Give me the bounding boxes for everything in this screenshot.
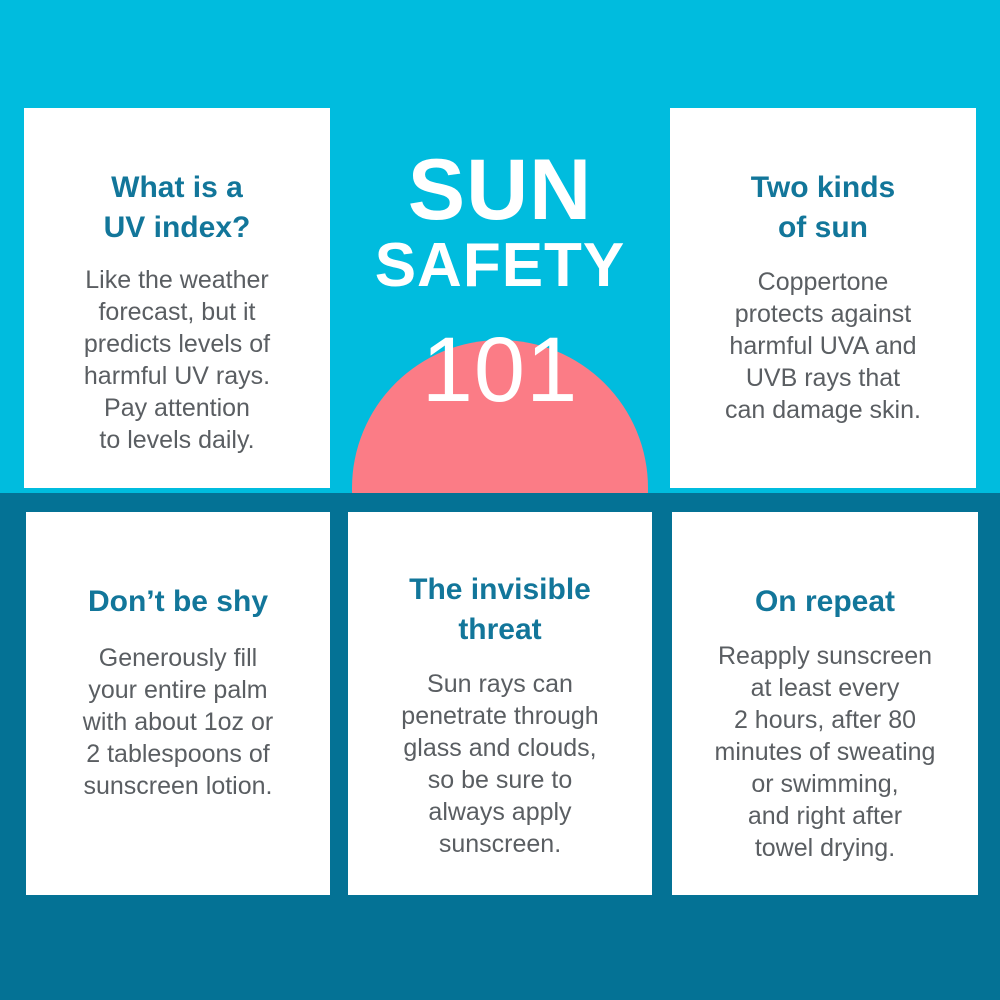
card-uv-index-body: Like the weather forecast, but it predic… bbox=[84, 264, 270, 456]
card-on-repeat-body: Reapply sunscreen at least every 2 hours… bbox=[715, 640, 936, 864]
card-dont-be-shy-title: Don’t be shy bbox=[88, 582, 268, 622]
card-uv-index: What is a UV index? Like the weather for… bbox=[24, 108, 330, 488]
card-on-repeat: On repeat Reapply sunscreen at least eve… bbox=[672, 512, 978, 895]
card-dont-be-shy: Don’t be shy Generously fill your entire… bbox=[26, 512, 330, 895]
sun-safety-infographic: SUN SAFETY 101 What is a UV index? Like … bbox=[0, 0, 1000, 1000]
card-two-kinds-of-sun-title: Two kinds of sun bbox=[751, 168, 895, 248]
card-invisible-threat-title: The invisible threat bbox=[409, 570, 591, 650]
card-two-kinds-of-sun: Two kinds of sun Coppertone protects aga… bbox=[670, 108, 976, 488]
card-invisible-threat: The invisible threat Sun rays can penetr… bbox=[348, 512, 652, 895]
card-on-repeat-title: On repeat bbox=[755, 582, 895, 622]
card-two-kinds-of-sun-body: Coppertone protects against harmful UVA … bbox=[725, 266, 921, 426]
card-dont-be-shy-body: Generously fill your entire palm with ab… bbox=[83, 642, 273, 802]
card-uv-index-title: What is a UV index? bbox=[104, 168, 251, 248]
card-invisible-threat-body: Sun rays can penetrate through glass and… bbox=[401, 668, 598, 860]
